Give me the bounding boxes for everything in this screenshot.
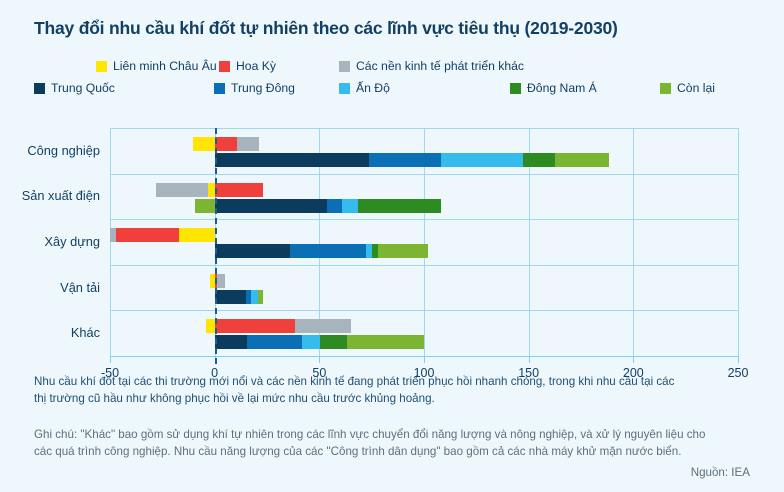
zero-reference-line bbox=[215, 128, 217, 364]
legend-swatch-icon bbox=[34, 83, 45, 94]
legend-item[interactable]: Trung Đông bbox=[214, 82, 295, 94]
bar-segment[interactable] bbox=[116, 228, 179, 242]
bar-segment[interactable] bbox=[342, 199, 358, 213]
x-gridline bbox=[738, 128, 739, 356]
bar-segment[interactable] bbox=[215, 335, 247, 349]
category-label: Khác bbox=[71, 325, 100, 340]
bar-segment[interactable] bbox=[302, 335, 321, 349]
x-axis-tick bbox=[529, 356, 530, 363]
legend-item-label: Liên minh Châu Âu bbox=[113, 60, 217, 72]
bar-segment[interactable] bbox=[156, 183, 208, 197]
bar-segment[interactable] bbox=[327, 199, 343, 213]
bar-segment[interactable] bbox=[441, 153, 524, 167]
bar-segment[interactable] bbox=[369, 153, 441, 167]
notes-spacer bbox=[34, 407, 749, 427]
legend-item[interactable]: Các nền kinh tế phát triển khác bbox=[339, 60, 524, 72]
legend-swatch-icon bbox=[660, 83, 671, 94]
x-axis-tick bbox=[110, 356, 111, 363]
source-label: Nguồn: IEA bbox=[691, 466, 750, 479]
bar-segment[interactable] bbox=[193, 137, 215, 151]
category-separator bbox=[110, 174, 738, 175]
category-label: Vận tải bbox=[60, 280, 100, 295]
x-axis-tick bbox=[424, 356, 425, 363]
legend-item-label: Còn lại bbox=[677, 82, 715, 94]
bar-segment[interactable] bbox=[206, 319, 214, 333]
legend-item[interactable]: Trung Quốc bbox=[34, 82, 115, 94]
legend-item[interactable]: Liên minh Châu Âu bbox=[96, 60, 217, 72]
x-axis-tick bbox=[738, 356, 739, 363]
x-axis-tick bbox=[319, 356, 320, 363]
legend-item-label: Trung Đông bbox=[231, 82, 295, 94]
legend-item[interactable]: Ấn Độ bbox=[339, 82, 390, 94]
bar-segment[interactable] bbox=[215, 244, 290, 258]
category-separator bbox=[110, 265, 738, 266]
legend-swatch-icon bbox=[219, 61, 230, 72]
bar-segment[interactable] bbox=[237, 137, 259, 151]
bar-segment[interactable] bbox=[258, 290, 263, 304]
legend-item[interactable]: Đông Nam Á bbox=[510, 82, 597, 94]
chart-note-line: thị trường cũ hầu như không phục hồi về … bbox=[34, 391, 749, 408]
bar-segment[interactable] bbox=[523, 153, 554, 167]
plot-frame: -50050100150200250 bbox=[110, 128, 738, 356]
chart-footnote-line: Ghi chú: "Khác" bao gồm sử dụng khí tự n… bbox=[34, 427, 749, 444]
bar-segment[interactable] bbox=[179, 228, 215, 242]
bar-segment[interactable] bbox=[110, 228, 116, 242]
x-axis-line bbox=[110, 356, 738, 357]
bar-segment[interactable] bbox=[215, 290, 246, 304]
legend-item[interactable]: Còn lại bbox=[660, 82, 715, 94]
legend-swatch-icon bbox=[339, 61, 350, 72]
bar-segment[interactable] bbox=[215, 199, 327, 213]
legend-swatch-icon bbox=[339, 83, 350, 94]
chart-notes: Nhu cầu khí đốt tại các thi trường mới n… bbox=[34, 374, 749, 460]
category-label: Xây dựng bbox=[44, 234, 100, 249]
legend-item-label: Các nền kinh tế phát triển khác bbox=[356, 60, 524, 72]
category-label: Sản xuất điện bbox=[22, 188, 100, 203]
chart-footnote-line: các quá trình công nghiệp. Nhu cầu năng … bbox=[34, 444, 749, 461]
x-gridline bbox=[633, 128, 634, 356]
bar-segment[interactable] bbox=[215, 183, 263, 197]
legend-item-label: Ấn Độ bbox=[356, 82, 390, 94]
x-axis-tick bbox=[633, 356, 634, 363]
bar-segment[interactable] bbox=[555, 153, 609, 167]
bar-segment[interactable] bbox=[215, 153, 369, 167]
legend-swatch-icon bbox=[214, 83, 225, 94]
bar-segment[interactable] bbox=[215, 137, 237, 151]
legend-item-label: Đông Nam Á bbox=[527, 82, 597, 94]
bar-segment[interactable] bbox=[215, 319, 296, 333]
chart-legend: Liên minh Châu ÂuHoa KỳCác nền kinh tế p… bbox=[34, 60, 754, 104]
bar-segment[interactable] bbox=[290, 244, 366, 258]
legend-swatch-icon bbox=[96, 61, 107, 72]
category-separator bbox=[110, 219, 738, 220]
legend-swatch-icon bbox=[510, 83, 521, 94]
bar-segment[interactable] bbox=[295, 319, 350, 333]
legend-item[interactable]: Hoa Kỳ bbox=[219, 60, 276, 72]
bar-segment[interactable] bbox=[358, 199, 441, 213]
bar-segment[interactable] bbox=[320, 335, 346, 349]
legend-item-label: Hoa Kỳ bbox=[236, 60, 276, 72]
bar-segment[interactable] bbox=[195, 199, 215, 213]
legend-item-label: Trung Quốc bbox=[51, 82, 115, 94]
category-separator bbox=[110, 310, 738, 311]
category-separator bbox=[110, 128, 738, 129]
bar-segment[interactable] bbox=[347, 335, 424, 349]
bar-segment[interactable] bbox=[247, 335, 301, 349]
category-label: Công nghiệp bbox=[27, 143, 100, 158]
bar-segment[interactable] bbox=[378, 244, 428, 258]
bar-segment[interactable] bbox=[217, 274, 225, 288]
chart-note-line: Nhu cầu khí đốt tại các thi trường mới n… bbox=[34, 374, 749, 391]
category-axis-labels: Công nghiệpSản xuất điệnXây dựngVận tảiK… bbox=[0, 128, 100, 356]
page-title: Thay đổi nhu cầu khí đốt tự nhiên theo c… bbox=[34, 18, 618, 39]
chart-plot-area: Công nghiệpSản xuất điệnXây dựngVận tảiK… bbox=[0, 118, 784, 358]
